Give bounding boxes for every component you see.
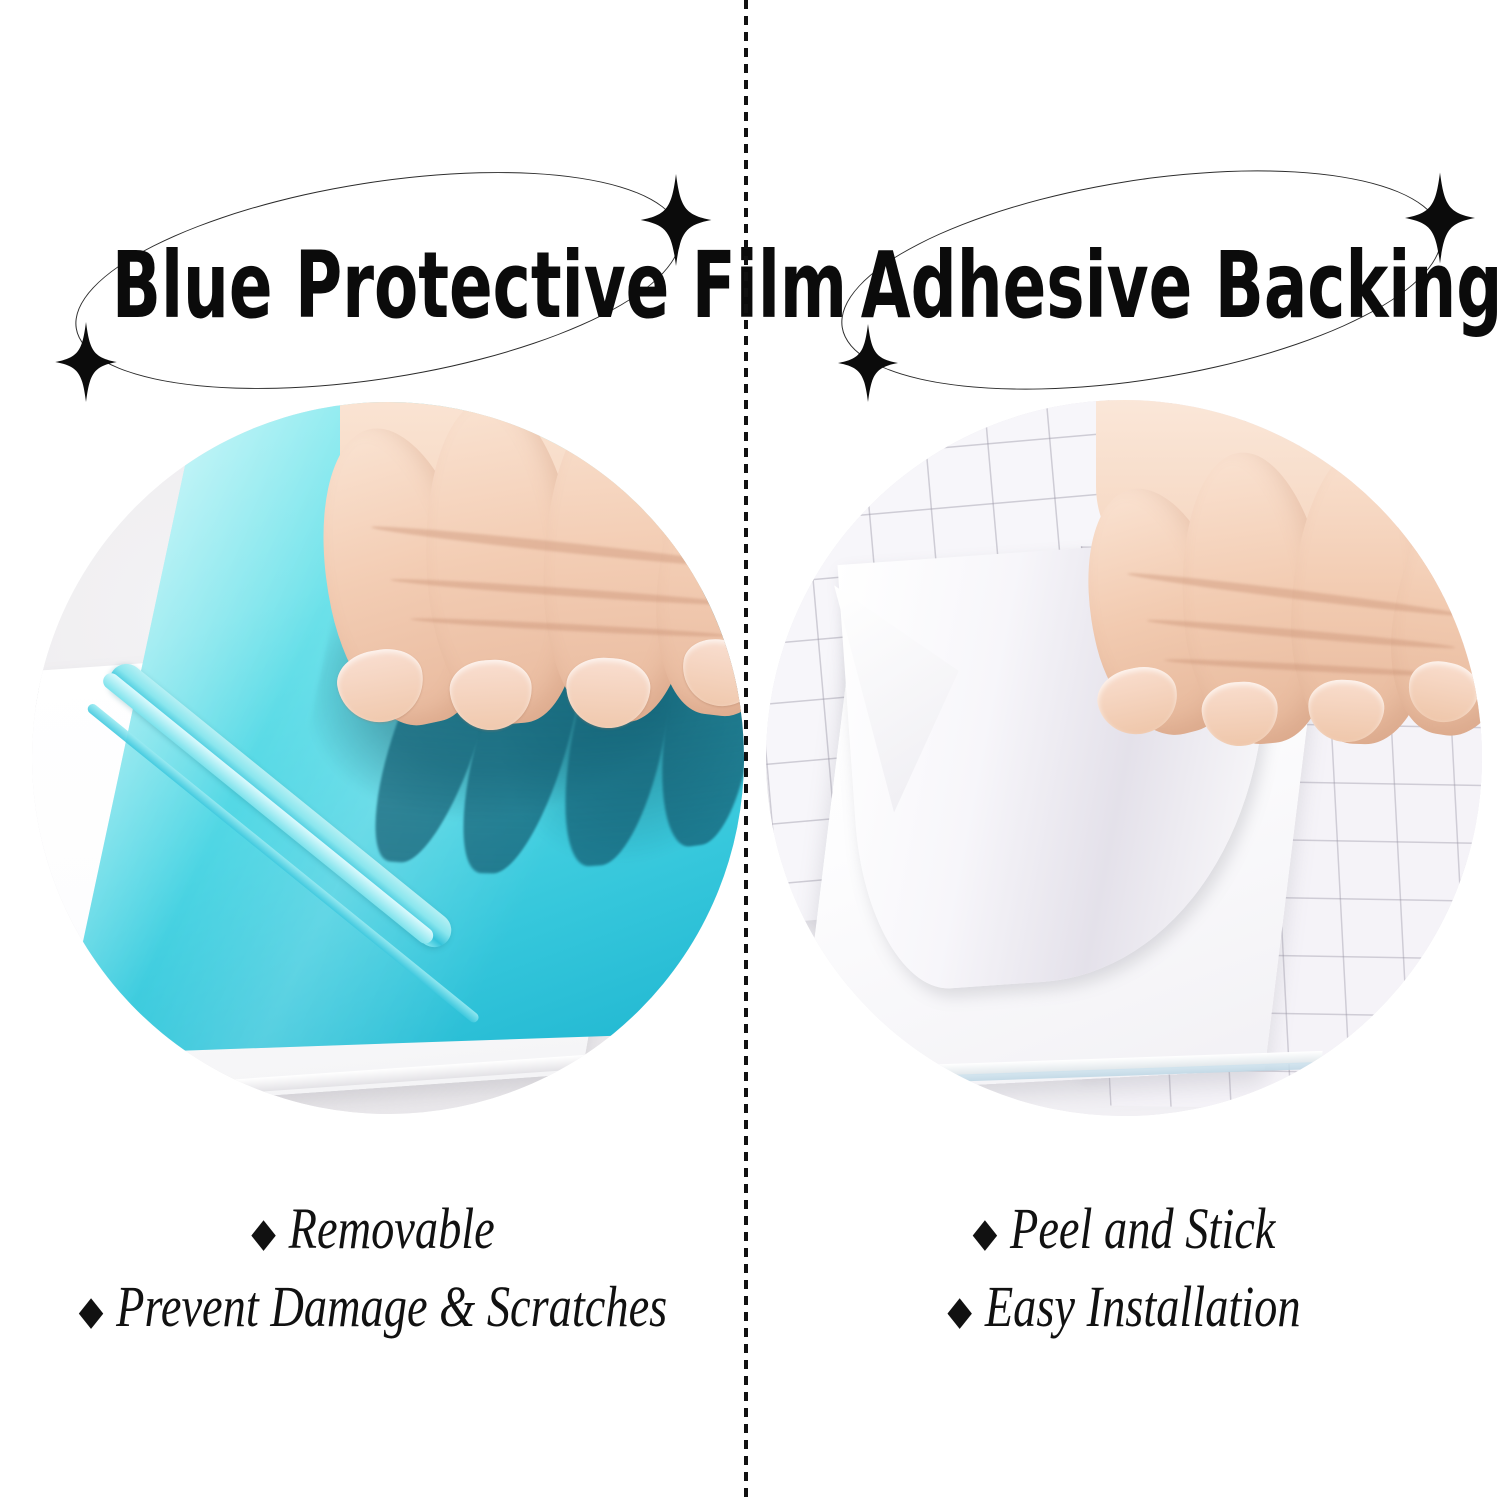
photo-adhesive-backing — [766, 400, 1482, 1116]
panel-blue-protective-film: Blue Protective Film — [0, 0, 746, 1500]
diamond-bullet-icon: ◆ — [79, 1288, 104, 1333]
list-item: ◆Peel and Stick — [823, 1192, 1425, 1270]
list-item-label: Easy Installation — [985, 1274, 1301, 1339]
panel-adhesive-backing: Adhesive Backing — [748, 0, 1500, 1500]
feature-list-right: ◆Peel and Stick ◆Easy Installation — [748, 1192, 1500, 1348]
sparkle-icon — [1405, 172, 1475, 264]
feature-list-left: ◆Removable ◆Prevent Damage & Scratches — [0, 1192, 746, 1348]
list-item: ◆Prevent Damage & Scratches — [75, 1270, 672, 1348]
page-title-left: Blue Protective Film — [112, 240, 634, 332]
diamond-bullet-icon: ◆ — [251, 1210, 276, 1255]
sparkle-icon — [55, 322, 117, 402]
list-item-label: Removable — [289, 1196, 495, 1261]
hand-peeling-film — [330, 402, 744, 762]
sparkle-icon — [640, 174, 712, 266]
list-item-label: Peel and Stick — [1010, 1196, 1275, 1261]
diamond-bullet-icon: ◆ — [973, 1210, 998, 1255]
product-feature-graphic: Blue Protective Film — [0, 0, 1500, 1500]
photo-blue-protective-film — [32, 402, 744, 1114]
page-title-right: Adhesive Backing — [861, 240, 1387, 332]
panel-divider — [744, 0, 748, 1500]
hand-peeling-liner — [1096, 430, 1482, 790]
list-item: ◆Removable — [75, 1192, 672, 1270]
sparkle-icon — [838, 324, 898, 402]
list-item: ◆Easy Installation — [823, 1270, 1425, 1348]
list-item-label: Prevent Damage & Scratches — [116, 1274, 667, 1339]
diamond-bullet-icon: ◆ — [947, 1288, 972, 1333]
